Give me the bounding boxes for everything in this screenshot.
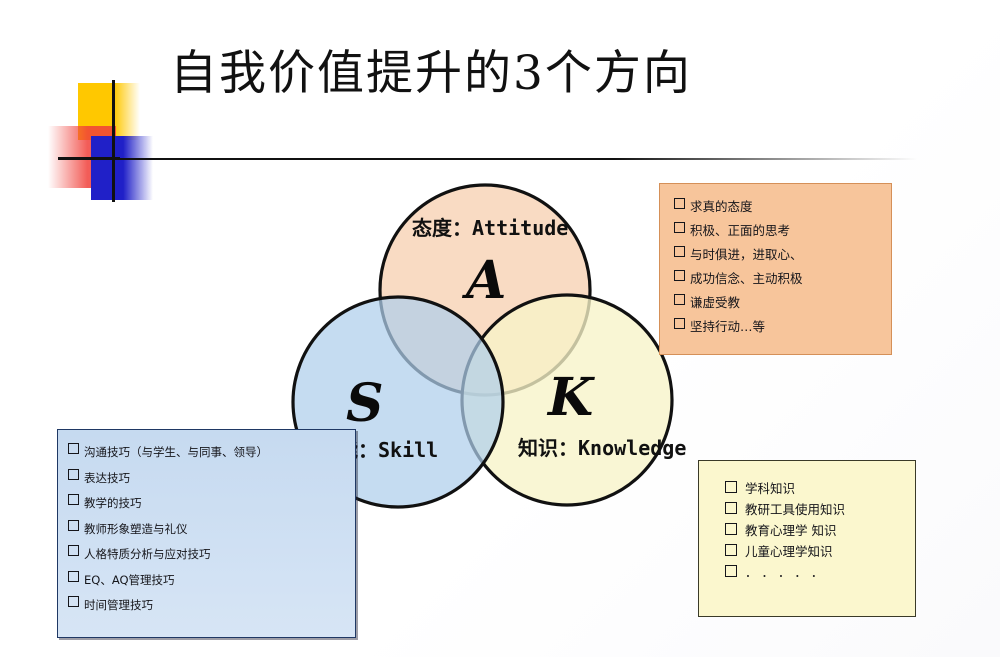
list-item: 教师形象塑造与礼仪 xyxy=(68,517,355,543)
list-item-label: ． ． ． ． ． xyxy=(745,562,823,583)
list-item: 教研工具使用知识 xyxy=(725,499,915,520)
list-item-label: 儿童心理学知识 xyxy=(745,541,833,562)
list-item: 积极、正面的思考 xyxy=(674,219,891,243)
skill-item-list: 沟通技巧（与学生、与同事、领导）表达技巧 教学的技巧教师形象塑造与礼仪人格特质分… xyxy=(68,440,355,619)
checkbox-icon xyxy=(725,565,737,577)
venn-letter-knowledge: K xyxy=(548,372,593,424)
list-item-label: EQ、AQ管理技巧 xyxy=(84,568,175,594)
checkbox-icon xyxy=(725,523,737,535)
list-item-label: 谦虚受教 xyxy=(690,291,740,315)
callout-box-knowledge: 学科知识教研工具使用知识教育心理学 知识儿童心理学知识． ． ． ． ． xyxy=(698,460,916,617)
deco-square-blue xyxy=(91,136,153,200)
checkbox-icon xyxy=(674,318,685,329)
list-item: ． ． ． ． ． xyxy=(725,562,915,583)
list-item: 求真的态度 xyxy=(674,195,891,219)
list-item: 儿童心理学知识 xyxy=(725,541,915,562)
list-item-label: 沟通技巧（与学生、与同事、领导） xyxy=(84,440,268,466)
list-item: 学科知识 xyxy=(725,478,915,499)
callout-box-attitude: 求真的态度积极、正面的思考与时俱进，进取心、成功信念、主动积极谦虚受教坚持行动…… xyxy=(659,183,892,355)
callout-box-skill: 沟通技巧（与学生、与同事、领导）表达技巧 教学的技巧教师形象塑造与礼仪人格特质分… xyxy=(57,429,356,638)
list-item-label: 成功信念、主动积极 xyxy=(690,267,803,291)
page-title: 自我价值提升的3个方向 xyxy=(170,34,810,103)
checkbox-icon xyxy=(674,270,685,281)
checkbox-icon xyxy=(725,481,737,493)
list-item: 成功信念、主动积极 xyxy=(674,267,891,291)
list-item-label: 与时俱进，进取心、 xyxy=(690,243,803,267)
list-item: 坚持行动…等 xyxy=(674,315,891,339)
venn-label-knowledge: 知识：Knowledge xyxy=(518,432,686,461)
list-item-label: 坚持行动…等 xyxy=(690,315,765,339)
list-item-label: 积极、正面的思考 xyxy=(690,219,790,243)
list-item-label: 时间管理技巧 xyxy=(84,593,153,619)
checkbox-icon xyxy=(68,494,79,505)
checkbox-icon xyxy=(674,246,685,257)
venn-letter-attitude: A xyxy=(466,255,506,307)
list-item: 教学的技巧 xyxy=(68,491,355,517)
list-item: 时间管理技巧 xyxy=(68,593,355,619)
list-item: 与时俱进，进取心、 xyxy=(674,243,891,267)
decorative-mark xyxy=(0,0,230,210)
knowledge-item-list: 学科知识教研工具使用知识教育心理学 知识儿童心理学知识． ． ． ． ． xyxy=(725,478,915,583)
list-item-label: 表达技巧 xyxy=(84,466,130,492)
deco-vertical-line xyxy=(112,80,115,202)
list-item-label: 学科知识 xyxy=(745,478,795,499)
list-item-label: 教学的技巧 xyxy=(84,491,142,517)
list-item-label: 人格特质分析与应对技巧 xyxy=(84,542,211,568)
slide-canvas: 自我价值提升的3个方向 态度：Attitude A 技能：Skill S 知识：… xyxy=(0,0,1000,657)
list-item-label: 教师形象塑造与礼仪 xyxy=(84,517,188,543)
list-item: 沟通技巧（与学生、与同事、领导） xyxy=(68,440,355,466)
list-item-label: 教育心理学 知识 xyxy=(745,520,836,541)
checkbox-icon xyxy=(68,545,79,556)
checkbox-icon xyxy=(68,443,79,454)
checkbox-icon xyxy=(725,544,737,556)
list-item: 教育心理学 知识 xyxy=(725,520,915,541)
deco-horizontal-line-stub xyxy=(58,157,120,160)
title-underline-rule xyxy=(118,158,918,160)
attitude-item-list: 求真的态度积极、正面的思考与时俱进，进取心、成功信念、主动积极谦虚受教坚持行动…… xyxy=(674,195,891,339)
checkbox-icon xyxy=(68,469,79,480)
list-item: 人格特质分析与应对技巧 xyxy=(68,542,355,568)
list-item: EQ、AQ管理技巧 xyxy=(68,568,355,594)
list-item: 表达技巧 xyxy=(68,466,355,492)
checkbox-icon xyxy=(674,198,685,209)
venn-letter-skill: S xyxy=(346,378,384,430)
checkbox-icon xyxy=(725,502,737,514)
list-item-label: 教研工具使用知识 xyxy=(745,499,845,520)
checkbox-icon xyxy=(68,520,79,531)
list-item: 谦虚受教 xyxy=(674,291,891,315)
checkbox-icon xyxy=(674,222,685,233)
list-item-label: 求真的态度 xyxy=(690,195,753,219)
checkbox-icon xyxy=(68,596,79,607)
checkbox-icon xyxy=(68,571,79,582)
venn-label-attitude: 态度：Attitude xyxy=(412,212,568,241)
checkbox-icon xyxy=(674,294,685,305)
